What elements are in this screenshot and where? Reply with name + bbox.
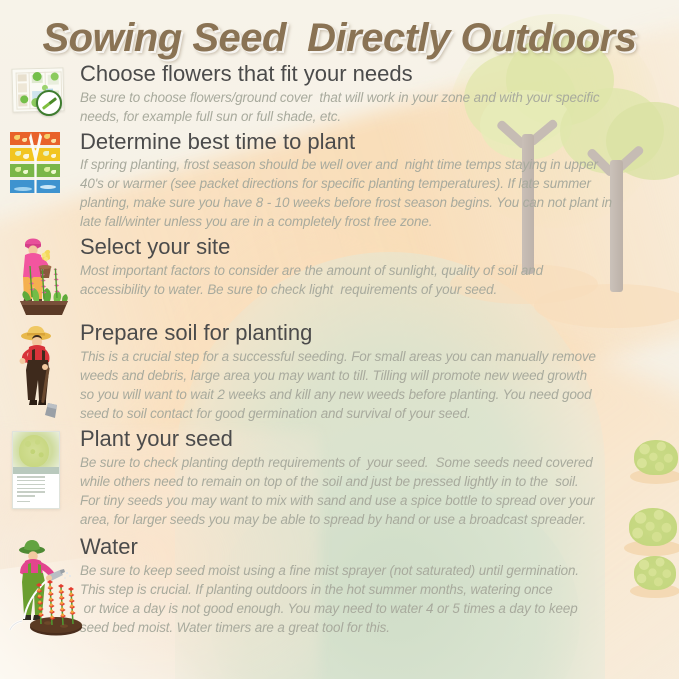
step-icon-column [8, 535, 80, 637]
step-text-column: Plant your seed Be sure to check plantin… [80, 427, 669, 529]
step-body-line: seed bed moist. Water timers are a great… [80, 618, 669, 637]
step-body: Most important factors to consider are t… [80, 261, 669, 299]
step-icon-column [8, 235, 80, 319]
step-title: Prepare soil for planting [80, 321, 669, 346]
step-body: Be sure to keep seed moist using a fine … [80, 561, 669, 637]
steps-list: Choose flowers that fit your needs Be su… [0, 62, 679, 637]
step-title: Choose flowers that fit your needs [80, 62, 669, 87]
step-body: Be sure to check planting depth requirem… [80, 453, 669, 529]
step-body-line: so you will want to wait 2 weeks and kil… [80, 385, 669, 404]
step-body-line: For tiny seeds you may want to mix with … [80, 491, 669, 510]
step-body-line: late fall/winter unless you are in a com… [80, 212, 669, 231]
step-item-plant-seed: Plant your seed Be sure to check plantin… [0, 427, 679, 529]
step-text-column: Determine best time to plant If spring p… [80, 130, 669, 232]
step-icon-column [8, 62, 80, 122]
garden-plan-map-icon [8, 64, 76, 122]
infographic-poster: Sowing Seed Directly Outdoors [0, 0, 679, 679]
seed-packet-icon [8, 431, 76, 511]
gardener-with-planter-icon [8, 237, 76, 319]
step-body-line: Be sure to choose flowers/ground cover t… [80, 88, 669, 107]
step-item-prepare-soil: Prepare soil for planting This is a cruc… [0, 321, 679, 423]
seed-packet-label-band [13, 467, 59, 474]
step-text-column: Water Be sure to keep seed moist using a… [80, 535, 669, 637]
step-item-water: Water Be sure to keep seed moist using a… [0, 535, 679, 637]
compass-icon [36, 90, 62, 116]
step-body-line: Most important factors to consider are t… [80, 261, 669, 280]
gardener-watering-icon [8, 537, 76, 637]
step-icon-column [8, 427, 80, 511]
step-icon-column [8, 321, 80, 421]
step-body-line: needs, for example full sun or full shad… [80, 107, 669, 126]
step-icon-column [8, 130, 80, 194]
step-item-determine-time: Determine best time to plant If spring p… [0, 130, 679, 232]
gardener-with-shovel-icon [8, 323, 76, 421]
seed-packet-plant-image [19, 435, 48, 467]
step-item-choose-flowers: Choose flowers that fit your needs Be su… [0, 62, 679, 126]
step-body-line: while others need to remain on top of th… [80, 472, 669, 491]
step-body: Be sure to choose flowers/ground cover t… [80, 88, 669, 126]
step-body-line: This is a crucial step for a successful … [80, 347, 669, 366]
step-body: If spring planting, frost season should … [80, 155, 669, 231]
four-seasons-icon [8, 132, 76, 194]
step-title: Select your site [80, 235, 669, 260]
step-body-line: This step is crucial. If planting outdoo… [80, 580, 669, 599]
step-body-line: seed to soil contact for good germinatio… [80, 404, 669, 423]
step-body-line: accessibility to water. Be sure to check… [80, 280, 669, 299]
step-body-line: weeds and debris, large area you may wan… [80, 366, 669, 385]
step-body-line: 40's or warmer (see packet directions fo… [80, 174, 669, 193]
step-title: Water [80, 535, 669, 560]
step-body-line: planting, make sure you have 8 - 10 week… [80, 193, 669, 212]
step-body-line: area, for larger seeds you may be able t… [80, 510, 669, 529]
season-band-autumn [10, 132, 60, 145]
seed-packet-body [12, 431, 60, 509]
step-body-line: Be sure to check planting depth requirem… [80, 453, 669, 472]
step-title: Plant your seed [80, 427, 669, 452]
step-title: Determine best time to plant [80, 130, 669, 155]
step-text-column: Select your site Most important factors … [80, 235, 669, 299]
step-text-column: Choose flowers that fit your needs Be su… [80, 62, 669, 126]
step-body: This is a crucial step for a successful … [80, 347, 669, 423]
poster-title: Sowing Seed Directly Outdoors [0, 16, 679, 61]
step-text-column: Prepare soil for planting This is a cruc… [80, 321, 669, 423]
step-body-line: Be sure to keep seed moist using a fine … [80, 561, 669, 580]
step-item-select-site: Select your site Most important factors … [0, 235, 679, 319]
step-body-line: or twice a day is not good enough. You m… [80, 599, 669, 618]
step-body-line: If spring planting, frost season should … [80, 155, 669, 174]
